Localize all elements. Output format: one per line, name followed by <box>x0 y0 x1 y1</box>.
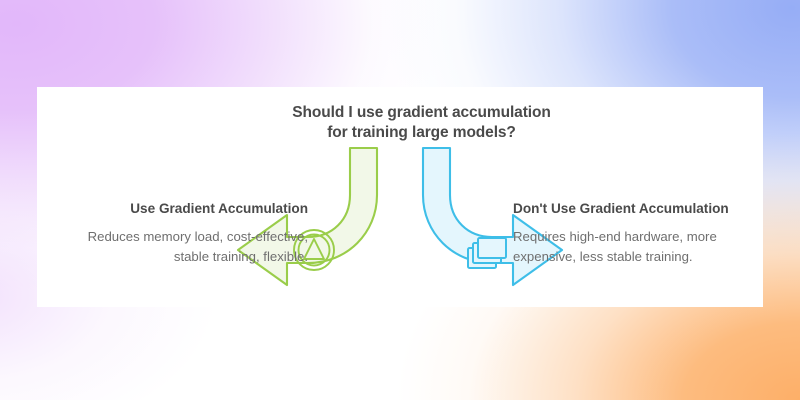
left-branch-description: Reduces memory load, cost-effective, sta… <box>84 227 308 266</box>
diagram-title-line-1: Should I use gradient accumulation <box>234 103 609 123</box>
stacked-windows-icon <box>468 238 506 268</box>
right-branch-description: Requires high-end hardware, more expensi… <box>513 227 745 266</box>
left-branch-text: Use Gradient Accumulation Reduces memory… <box>50 200 308 266</box>
right-branch-text: Don't Use Gradient Accumulation Requires… <box>513 200 771 266</box>
right-branch-label: Don't Use Gradient Accumulation <box>513 200 771 217</box>
left-branch-label: Use Gradient Accumulation <box>46 200 308 217</box>
diagram-title: Should I use gradient accumulation for t… <box>234 103 609 142</box>
diagram-canvas: Should I use gradient accumulation for t… <box>0 0 800 400</box>
content-card: Should I use gradient accumulation for t… <box>37 87 763 307</box>
diagram-title-line-2: for training large models? <box>234 123 609 143</box>
